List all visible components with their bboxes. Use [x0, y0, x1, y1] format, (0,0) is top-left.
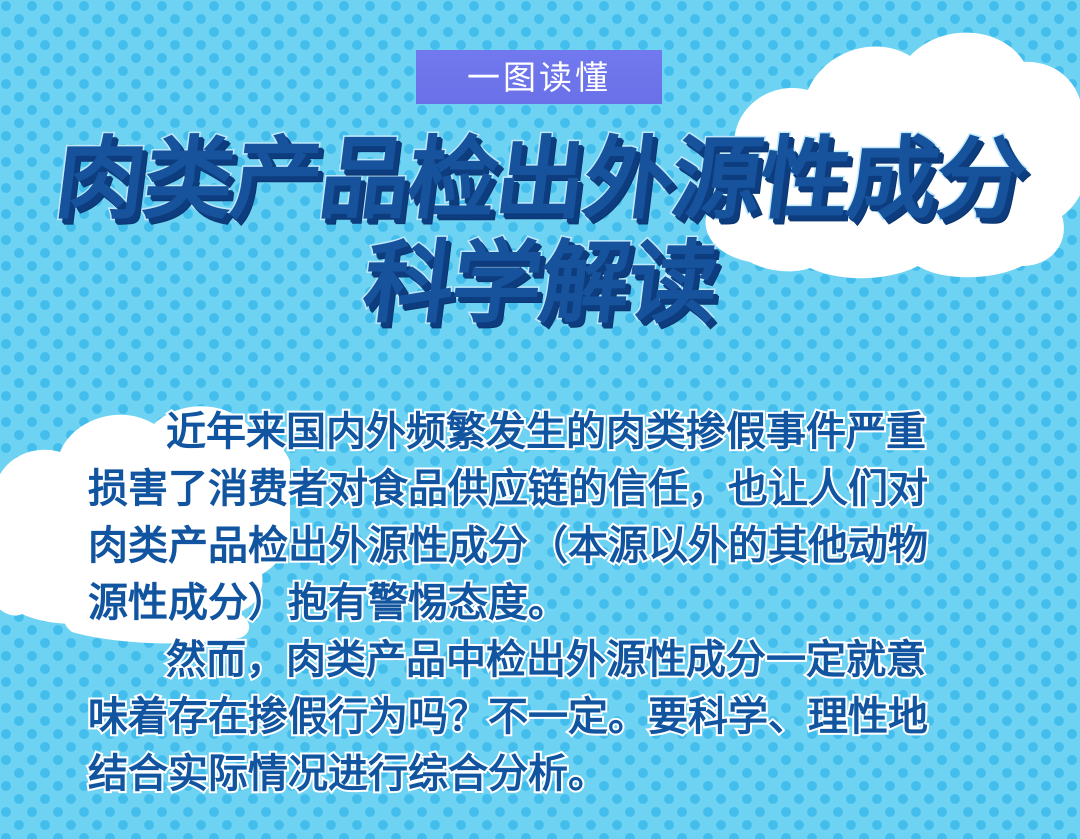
body-line: 味着存在掺假行为吗？不一定。要科学、理性地 — [88, 689, 994, 746]
body-paragraph-2: 然而，肉类产品中检出外源性成分一定就意 味着存在掺假行为吗？不一定。要科学、理性… — [88, 632, 994, 803]
body-paragraph-1: 近年来国内外频繁发生的肉类掺假事件严重 损害了消费者对食品供应链的信任，也让人们… — [88, 404, 994, 632]
page-title-line-1: 肉类产品检出外源性成分 — [0, 128, 1080, 232]
body-line: 结合实际情况进行综合分析。 — [88, 746, 994, 803]
body-line: 源性成分）抱有警惕态度。 — [88, 575, 994, 632]
top-badge: 一图读懂 — [416, 50, 662, 104]
body-copy: 近年来国内外频繁发生的肉类掺假事件严重 损害了消费者对食品供应链的信任，也让人们… — [88, 404, 994, 803]
page-title: 肉类产品检出外源性成分 科学解读 — [0, 128, 1080, 336]
body-line: 损害了消费者对食品供应链的信任，也让人们对 — [88, 461, 994, 518]
poster-canvas: 一图读懂 肉类产品检出外源性成分 科学解读 近年来国内外频繁发生的肉类掺假事件严… — [0, 0, 1080, 839]
body-line: 肉类产品检出外源性成分（本源以外的其他动物 — [88, 518, 994, 575]
page-title-line-2: 科学解读 — [0, 232, 1080, 336]
body-line: 然而，肉类产品中检出外源性成分一定就意 — [88, 632, 994, 689]
body-line: 近年来国内外频繁发生的肉类掺假事件严重 — [88, 404, 994, 461]
top-badge-label: 一图读懂 — [467, 61, 611, 94]
